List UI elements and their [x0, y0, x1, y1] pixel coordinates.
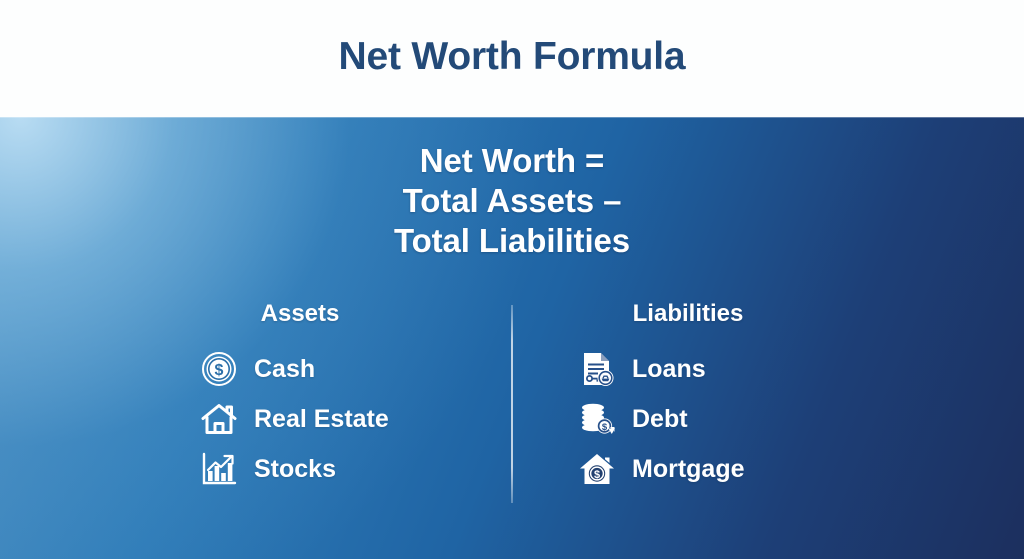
coin-stack-down-arrow-icon: $	[578, 400, 616, 438]
list-item-mortgage: $ Mortgage	[508, 444, 948, 494]
house-dollar-icon: $	[578, 450, 616, 488]
dollar-coin-icon: $	[200, 350, 238, 388]
net-worth-formula: Net Worth = Total Assets – Total Liabili…	[0, 141, 1024, 261]
svg-text:$: $	[594, 469, 600, 481]
list-item-cash: $ Cash	[80, 344, 520, 394]
svg-text:$: $	[215, 362, 224, 379]
page-title: Net Worth Formula	[339, 37, 686, 80]
title-band: Net Worth Formula	[0, 0, 1024, 117]
list-item-label: Mortgage	[632, 457, 745, 482]
bar-chart-growth-icon	[200, 450, 238, 488]
list-item-label: Loans	[632, 357, 706, 382]
formula-line-1: Net Worth =	[0, 141, 1024, 181]
assets-column: Assets $ Cash	[80, 302, 520, 494]
net-worth-formula-slide: Net Worth Formula Net Worth = Total Asse…	[0, 0, 1024, 559]
loan-document-icon	[578, 350, 616, 388]
list-item-loans: Loans	[508, 344, 948, 394]
list-item-real-estate: Real Estate	[80, 394, 520, 444]
list-item-label: Debt	[632, 407, 688, 432]
assets-heading: Assets	[160, 302, 440, 326]
list-item-label: Real Estate	[254, 407, 389, 432]
list-item-label: Stocks	[254, 457, 336, 482]
columns-area: Assets $ Cash	[0, 302, 1024, 517]
formula-line-3: Total Liabilities	[0, 221, 1024, 261]
content-panel: Net Worth = Total Assets – Total Liabili…	[0, 117, 1024, 559]
list-item-stocks: Stocks	[80, 444, 520, 494]
svg-text:$: $	[602, 422, 608, 433]
house-outline-icon	[200, 400, 238, 438]
list-item-label: Cash	[254, 357, 315, 382]
liabilities-column: Liabilities	[508, 302, 948, 494]
list-item-debt: $ Debt	[508, 394, 948, 444]
formula-line-2: Total Assets –	[0, 181, 1024, 221]
liabilities-heading: Liabilities	[548, 302, 828, 326]
